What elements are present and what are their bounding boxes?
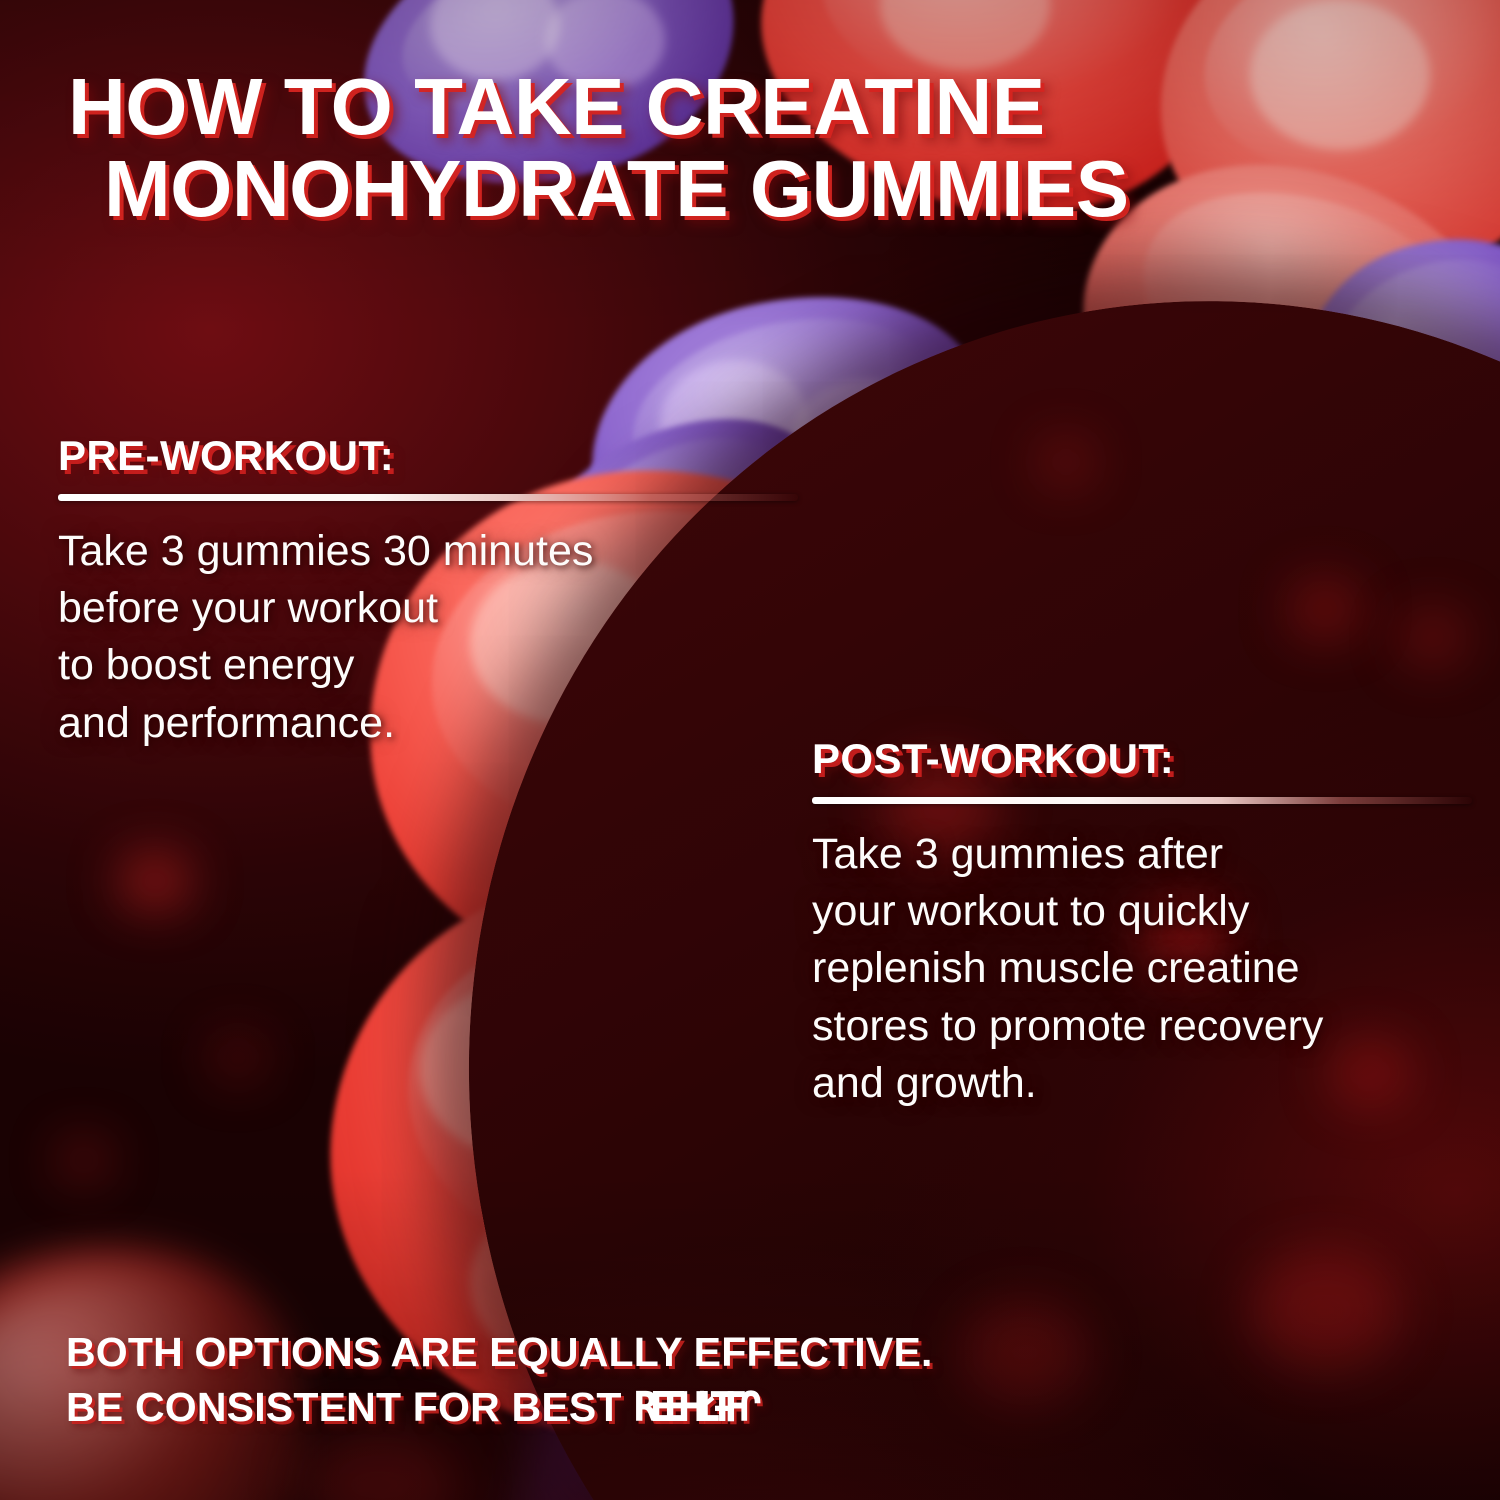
post-workout-body-line: stores to promote recovery bbox=[812, 998, 1472, 1055]
post-workout-underline bbox=[812, 797, 1472, 804]
footer-garbled-word: REEH'ŁŦFՐ bbox=[633, 1380, 752, 1435]
pre-workout-underline bbox=[58, 494, 798, 501]
footer-strapline: BOTH OPTIONS ARE EQUALLY EFFECTIVE. BE C… bbox=[66, 1325, 1436, 1435]
section-pre-workout: PRE-WORKOUT: Take 3 gummies 30 minutes b… bbox=[58, 432, 798, 752]
pre-workout-body-line: to boost energy bbox=[58, 637, 798, 694]
headline-line-1: HOW TO TAKE CREATINE bbox=[68, 66, 1398, 148]
pre-workout-body-line: before your workout bbox=[58, 580, 798, 637]
pre-workout-body: Take 3 gummies 30 minutes before your wo… bbox=[58, 523, 798, 752]
section-post-workout: POST-WORKOUT: Take 3 gummies after your … bbox=[812, 735, 1472, 1112]
post-workout-body-line: and growth. bbox=[812, 1055, 1472, 1112]
footer-line-2: BE CONSISTENT FOR BEST REEH'ŁŦFՐ bbox=[66, 1380, 1436, 1435]
post-workout-body: Take 3 gummies after your workout to qui… bbox=[812, 826, 1472, 1112]
post-workout-body-line: Take 3 gummies after bbox=[812, 826, 1472, 883]
footer-line-1: BOTH OPTIONS ARE EQUALLY EFFECTIVE. bbox=[66, 1325, 1436, 1380]
content-layer: HOW TO TAKE CREATINE MONOHYDRATE GUMMIES… bbox=[0, 0, 1500, 1500]
footer-line-2-prefix: BE CONSISTENT FOR BEST bbox=[66, 1384, 633, 1430]
pre-workout-body-line: and performance. bbox=[58, 695, 798, 752]
post-workout-body-line: your workout to quickly bbox=[812, 883, 1472, 940]
poster-canvas: HOW TO TAKE CREATINE MONOHYDRATE GUMMIES… bbox=[0, 0, 1500, 1500]
page-title: HOW TO TAKE CREATINE MONOHYDRATE GUMMIES bbox=[68, 66, 1398, 229]
pre-workout-heading: PRE-WORKOUT: bbox=[58, 432, 798, 480]
post-workout-body-line: replenish muscle creatine bbox=[812, 940, 1472, 997]
headline-line-2: MONOHYDRATE GUMMIES bbox=[68, 148, 1398, 230]
post-workout-heading: POST-WORKOUT: bbox=[812, 735, 1472, 783]
pre-workout-body-line: Take 3 gummies 30 minutes bbox=[58, 523, 798, 580]
